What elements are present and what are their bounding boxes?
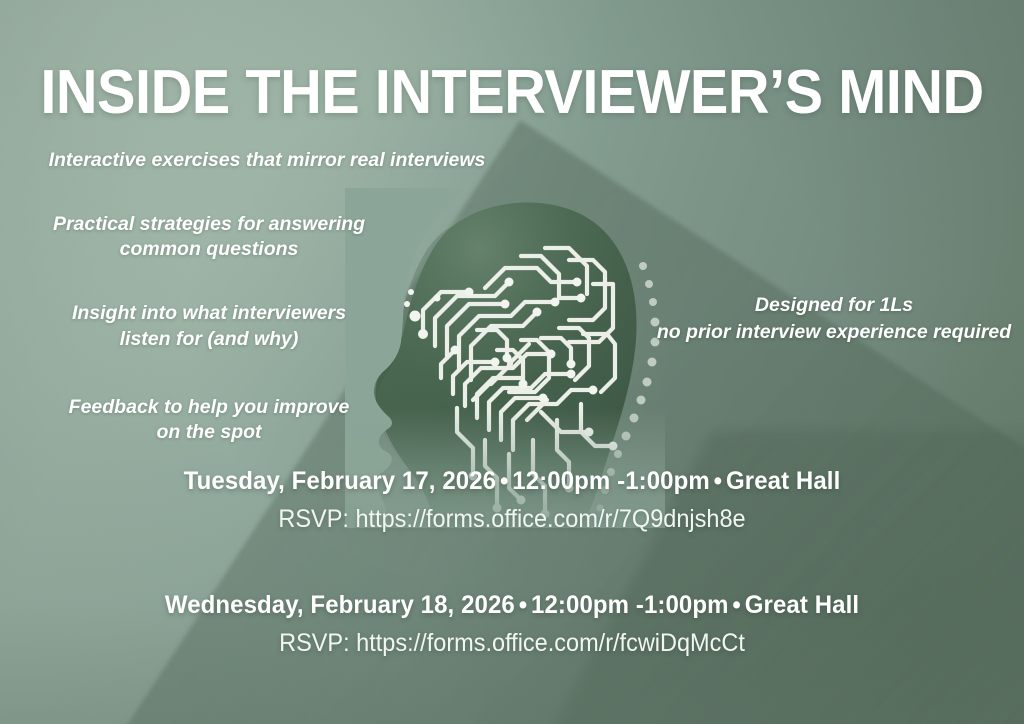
event-session-2: Wednesday, February 18, 2026•12:00pm -1:… [0,590,1024,658]
separator-dot: • [496,467,512,495]
event-details: Wednesday, February 18, 2026•12:00pm -1:… [20,590,1003,620]
audience-line-2: no prior interview experience required [648,319,1020,346]
bullet-line: Practical strategies for answering [44,212,374,238]
bullet-line: Interactive exercises that mirror real i… [22,148,512,174]
event-session-1: Tuesday, February 17, 2026•12:00pm -1:00… [0,466,1024,534]
rsvp-line: RSVP: https://forms.office.com/r/fcwiDqM… [31,628,994,658]
audience-note: Designed for 1Ls no prior interview expe… [648,292,1020,345]
event-date: Wednesday, February 18, 2026 [165,591,515,619]
rsvp-label: RSVP: [279,629,350,657]
separator-dot: • [515,591,531,619]
bullet-line: Feedback to help you improve [44,395,374,421]
event-location: Great Hall [745,591,859,619]
event-time: 12:00pm -1:00pm [531,591,729,619]
list-item: Insight into what interviewers listen fo… [44,301,374,352]
separator-dot: • [710,467,726,495]
bullet-line: Insight into what interviewers [44,301,374,327]
list-item: Interactive exercises that mirror real i… [22,148,512,174]
page-title: INSIDE THE INTERVIEWER’S MIND [36,62,988,124]
separator-dot: • [729,591,745,619]
list-item: Feedback to help you improve on the spot [44,395,374,446]
bullet-line: on the spot [44,420,374,446]
rsvp-line: RSVP: https://forms.office.com/r/7Q9dnjs… [31,504,994,534]
audience-line-1: Designed for 1Ls [648,292,1020,319]
rsvp-label: RSVP: [278,505,349,533]
bullet-line: listen for (and why) [44,327,374,353]
event-location: Great Hall [726,467,840,495]
event-details: Tuesday, February 17, 2026•12:00pm -1:00… [20,466,1003,496]
event-flyer: INSIDE THE INTERVIEWER’S MIND Interactiv… [0,0,1024,724]
rsvp-link[interactable]: https://forms.office.com/r/fcwiDqMcCt [356,629,745,657]
bullet-line: common questions [44,237,374,263]
list-item: Practical strategies for answering commo… [44,212,374,263]
feature-list: Interactive exercises that mirror real i… [14,148,504,446]
event-time: 12:00pm -1:00pm [512,467,710,495]
event-date: Tuesday, February 17, 2026 [184,467,496,495]
event-list: Tuesday, February 17, 2026•12:00pm -1:00… [0,466,1024,658]
rsvp-link[interactable]: https://forms.office.com/r/7Q9dnjsh8e [355,505,745,533]
